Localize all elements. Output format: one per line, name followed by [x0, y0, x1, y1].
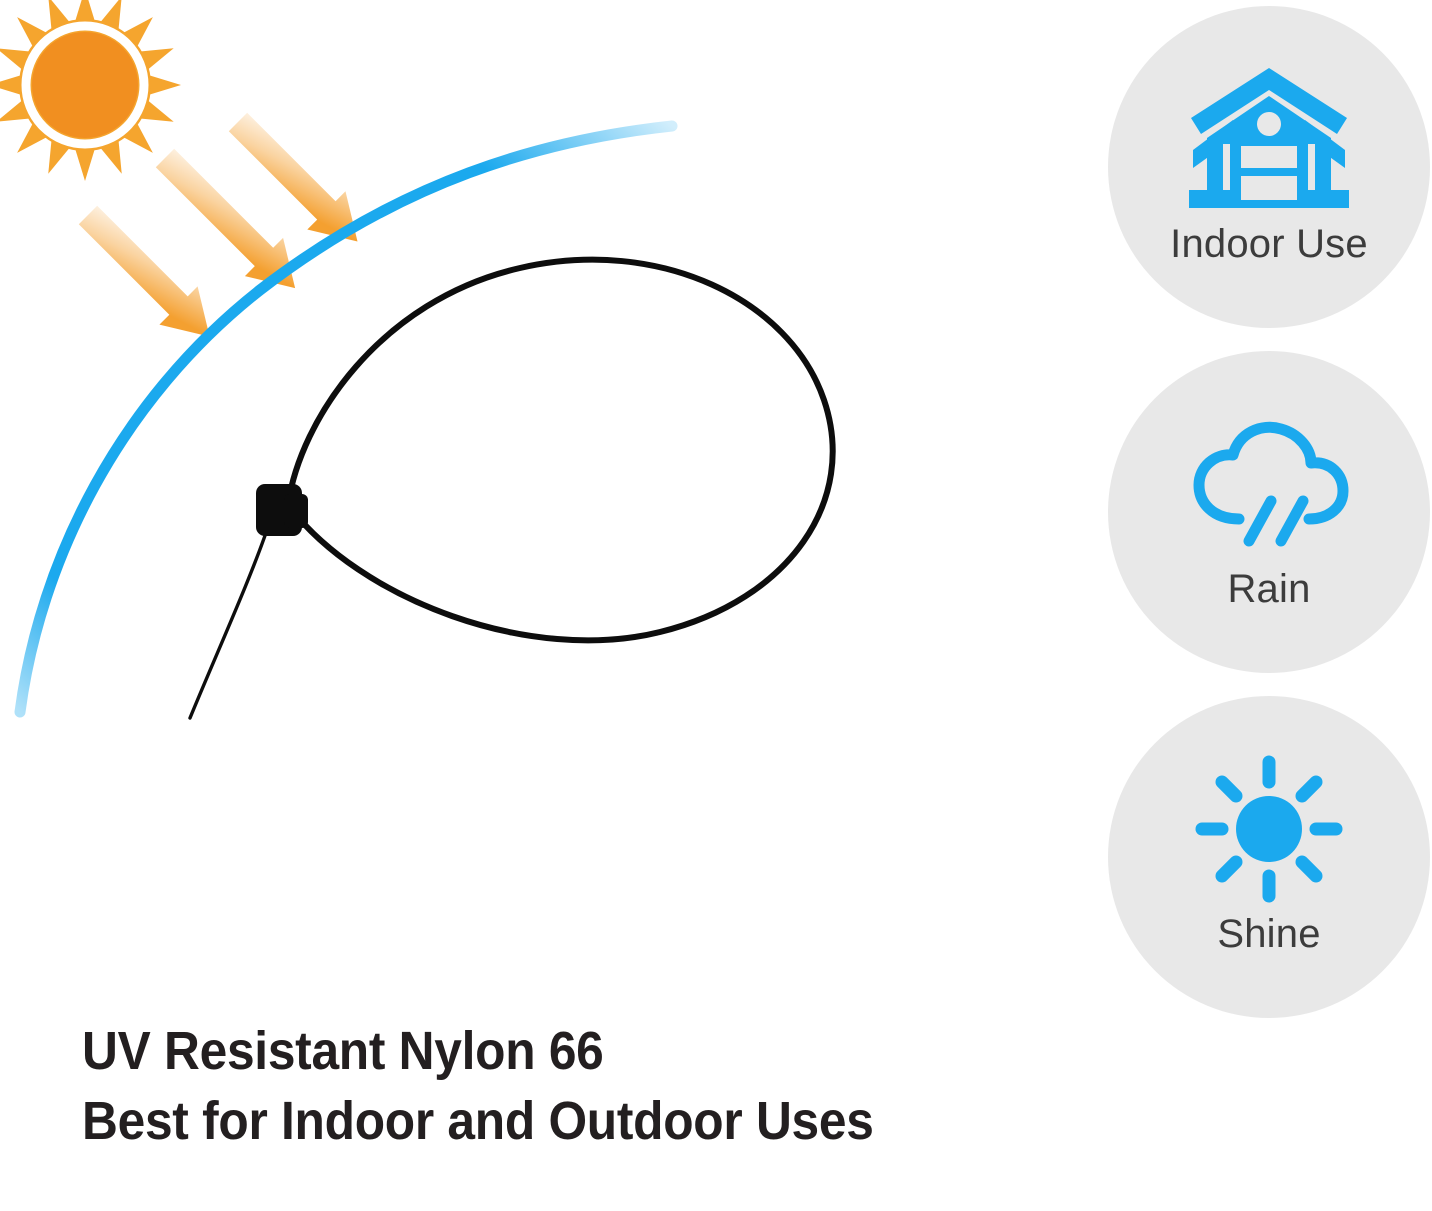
sun-burst-icon — [0, 0, 181, 181]
feature-badge-indoor-use[interactable]: Indoor Use — [1108, 6, 1430, 328]
feature-badge-column: Indoor Use Rain — [1108, 6, 1432, 1018]
feature-badge-shine[interactable]: Shine — [1108, 696, 1430, 1018]
headline-block: UV Resistant Nylon 66 Best for Indoor an… — [82, 1016, 1082, 1156]
sun-icon — [1184, 754, 1354, 904]
feature-label-indoor-use: Indoor Use — [1170, 224, 1368, 264]
rain-cloud-icon — [1184, 409, 1354, 559]
cable-tie-loop — [190, 260, 833, 718]
house-icon — [1184, 64, 1354, 214]
product-feature-infographic: Indoor Use Rain — [0, 0, 1432, 1211]
feature-badge-rain[interactable]: Rain — [1108, 351, 1430, 673]
feature-label-rain: Rain — [1227, 569, 1310, 609]
headline-line-2: Best for Indoor and Outdoor Uses — [82, 1086, 1002, 1156]
uv-resistance-illustration — [0, 0, 1090, 1000]
feature-label-shine: Shine — [1217, 914, 1320, 954]
headline-line-1: UV Resistant Nylon 66 — [82, 1016, 1002, 1086]
